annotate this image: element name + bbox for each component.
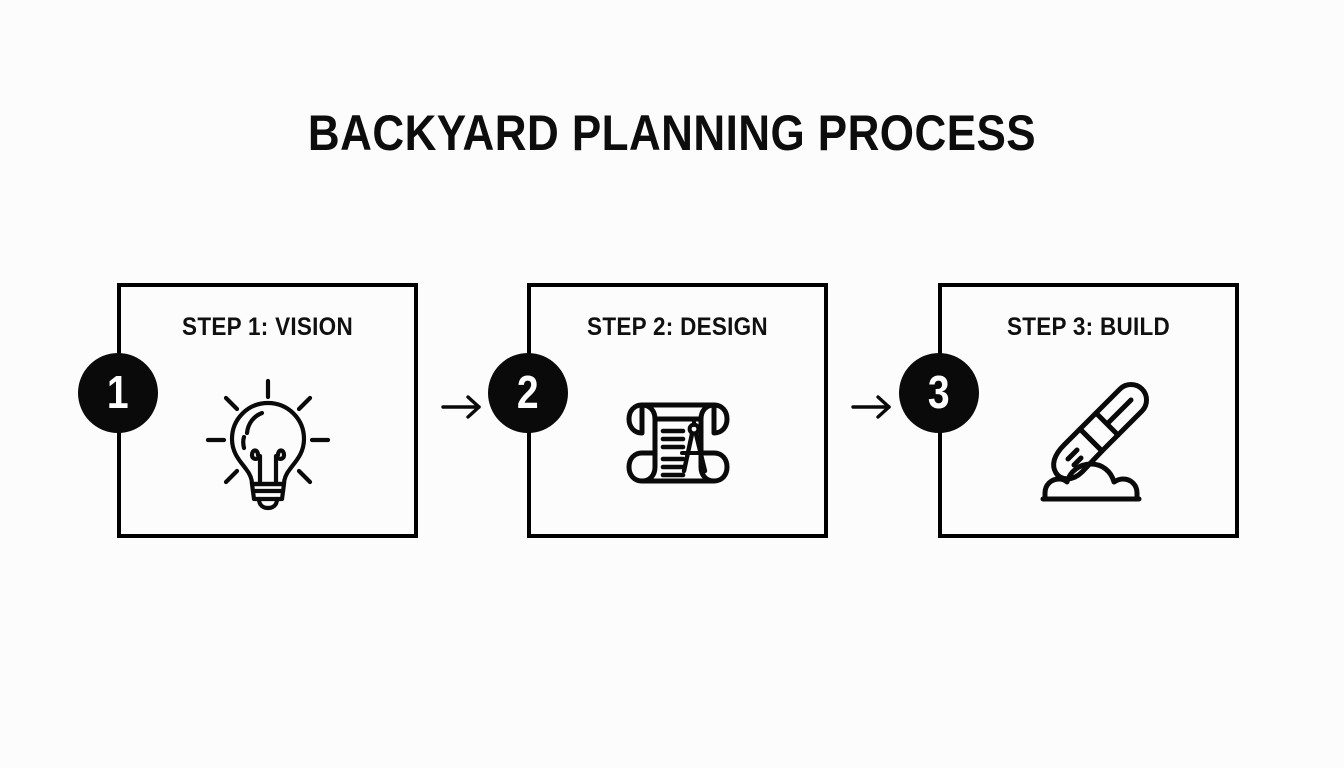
step-badge-2: 2 — [488, 353, 568, 433]
process-flow: STEP 1: VISION — [0, 283, 1344, 539]
step-number-3: 3 — [928, 369, 950, 415]
blueprint-compass-icon — [612, 375, 744, 511]
step-number-1: 1 — [107, 369, 129, 415]
flow-arrow-1 — [437, 387, 491, 427]
step-badge-3: 3 — [899, 353, 979, 433]
diagram-canvas: BACKYARD PLANNING PROCESS STEP 1: VISION — [0, 0, 1344, 768]
page-title: BACKYARD PLANNING PROCESS — [81, 104, 1264, 162]
step-number-2: 2 — [517, 369, 539, 415]
step-label-2: STEP 2: DESIGN — [546, 313, 810, 341]
flow-arrow-2 — [847, 387, 901, 427]
step-card-1[interactable]: STEP 1: VISION — [117, 283, 418, 538]
step-card-2[interactable]: STEP 2: DESIGN — [527, 283, 828, 538]
step-label-3: STEP 3: BUILD — [957, 313, 1221, 341]
lightbulb-icon — [202, 375, 334, 511]
shovel-soil-icon — [1023, 375, 1155, 511]
step-badge-1: 1 — [78, 353, 158, 433]
step-label-1: STEP 1: VISION — [136, 313, 400, 341]
step-card-3[interactable]: STEP 3: BUILD — [938, 283, 1239, 538]
